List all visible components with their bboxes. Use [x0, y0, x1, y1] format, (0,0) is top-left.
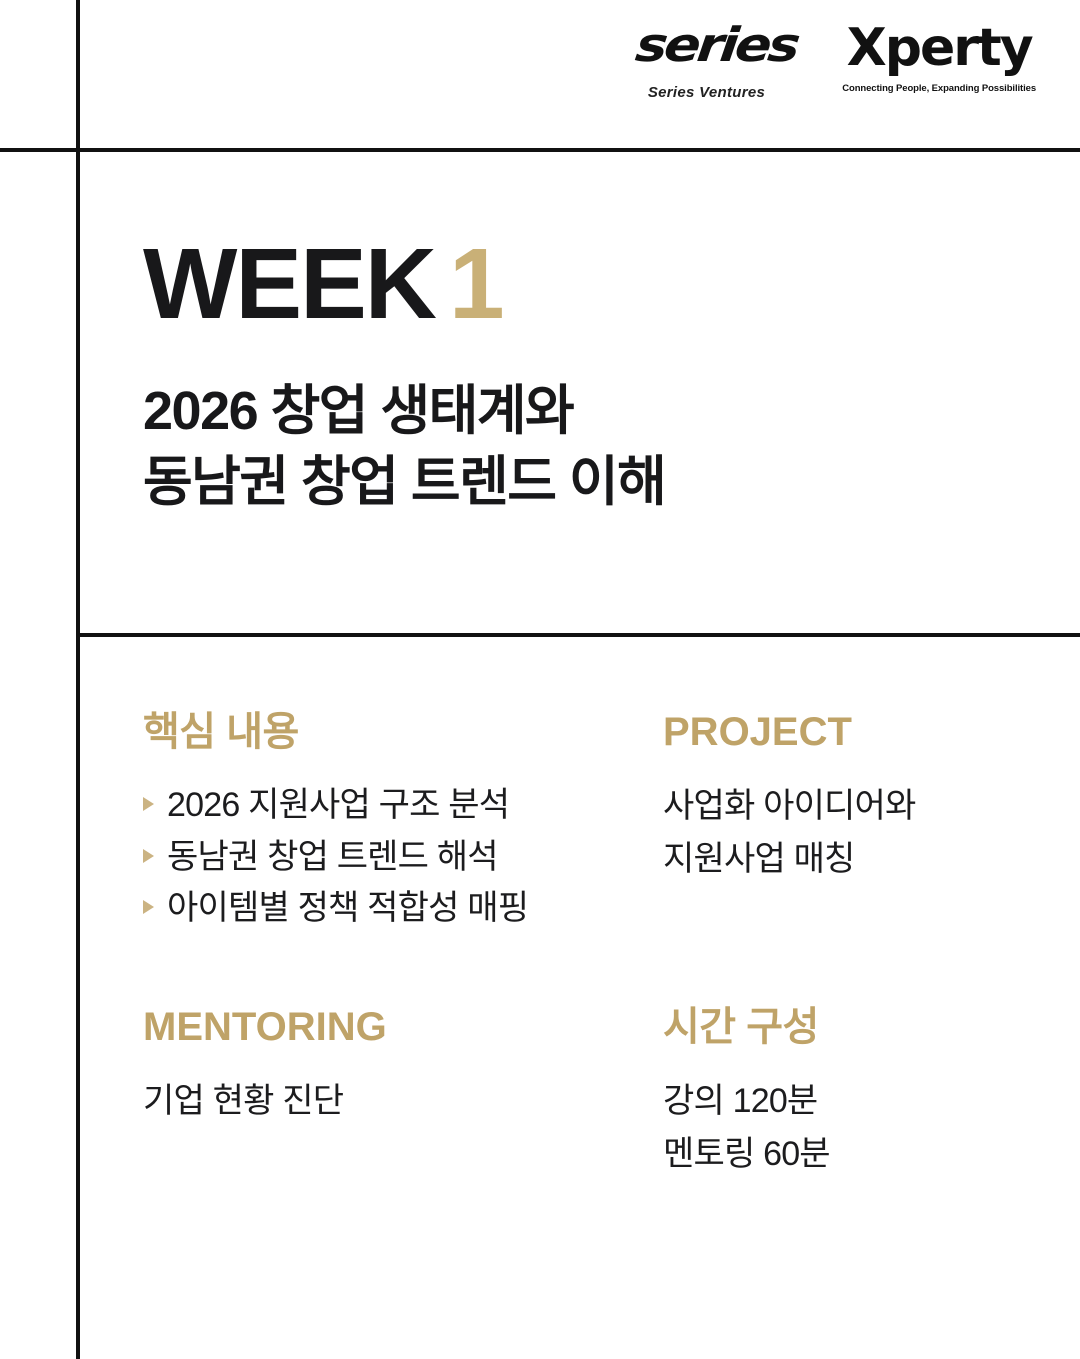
section-core-content: 핵심 내용 2026 지원사업 구조 분석 동남권 창업 트렌드 해석 아이템별…	[143, 712, 663, 935]
subtitle-line-1: 2026 창업 생태계와	[143, 376, 665, 447]
week-number: 1	[449, 228, 503, 340]
section-schedule: 시간 구성 강의 120분 멘토링 60분	[663, 1007, 1023, 1181]
section-project-title: PROJECT	[663, 712, 1023, 752]
core-bullet-list: 2026 지원사업 구조 분석 동남권 창업 트렌드 해석 아이템별 정책 적합…	[143, 780, 663, 935]
project-line-2: 지원사업 매칭	[663, 833, 1023, 886]
xperty-logo: Xperty Connecting People, Expanding Poss…	[842, 22, 1036, 94]
series-tagline: Series Ventures	[636, 84, 777, 101]
week-heading: WEEK1	[143, 234, 665, 334]
schedule-line-1: 강의 120분	[663, 1075, 1023, 1128]
series-wordmark: series	[633, 22, 799, 69]
list-item: 아이템별 정책 적합성 매핑	[143, 883, 663, 935]
page-title: 2026 창업 생태계와 동남권 창업 트렌드 이해	[143, 376, 665, 519]
section-schedule-body: 강의 120분 멘토링 60분	[663, 1075, 1023, 1181]
list-item: 동남권 창업 트렌드 해석	[143, 832, 663, 884]
list-item-label: 2026 지원사업 구조 분석	[167, 780, 509, 832]
section-project: PROJECT 사업화 아이디어와 지원사업 매칭	[663, 712, 1023, 935]
section-project-body: 사업화 아이디어와 지원사업 매칭	[663, 780, 1023, 886]
xperty-tagline: Connecting People, Expanding Possibiliti…	[842, 83, 1036, 94]
project-line-1: 사업화 아이디어와	[663, 780, 1023, 833]
hero-block: WEEK1 2026 창업 생태계와 동남권 창업 트렌드 이해	[143, 234, 665, 519]
section-mentoring-title: MENTORING	[143, 1007, 663, 1047]
section-mentoring: MENTORING 기업 현황 진단	[143, 1007, 663, 1181]
xperty-wordmark: Xperty	[842, 22, 1036, 74]
section-schedule-title: 시간 구성	[663, 1007, 1023, 1047]
subtitle-line-2: 동남권 창업 트렌드 이해	[143, 447, 665, 518]
week-label: WEEK	[143, 228, 435, 340]
series-logo: series Series Ventures	[636, 22, 777, 101]
list-item-label: 동남권 창업 트렌드 해석	[167, 832, 498, 884]
section-core-title: 핵심 내용	[143, 712, 663, 752]
section-mentoring-body: 기업 현황 진단	[143, 1075, 663, 1128]
triangle-bullet-icon	[143, 900, 154, 914]
list-item: 2026 지원사업 구조 분석	[143, 780, 663, 832]
section-divider-rule	[76, 633, 1080, 637]
list-item-label: 아이템별 정책 적합성 매핑	[167, 883, 528, 935]
vertical-rule	[76, 0, 80, 1359]
schedule-line-2: 멘토링 60분	[663, 1128, 1023, 1181]
triangle-bullet-icon	[143, 849, 154, 863]
header-divider-rule	[0, 148, 1080, 152]
triangle-bullet-icon	[143, 797, 154, 811]
slide-canvas: series Series Ventures Xperty Connecting…	[0, 0, 1080, 1359]
detail-grid: 핵심 내용 2026 지원사업 구조 분석 동남권 창업 트렌드 해석 아이템별…	[143, 712, 1023, 1181]
mentoring-line-1: 기업 현황 진단	[143, 1075, 663, 1128]
logo-row: series Series Ventures Xperty Connecting…	[636, 22, 1036, 132]
